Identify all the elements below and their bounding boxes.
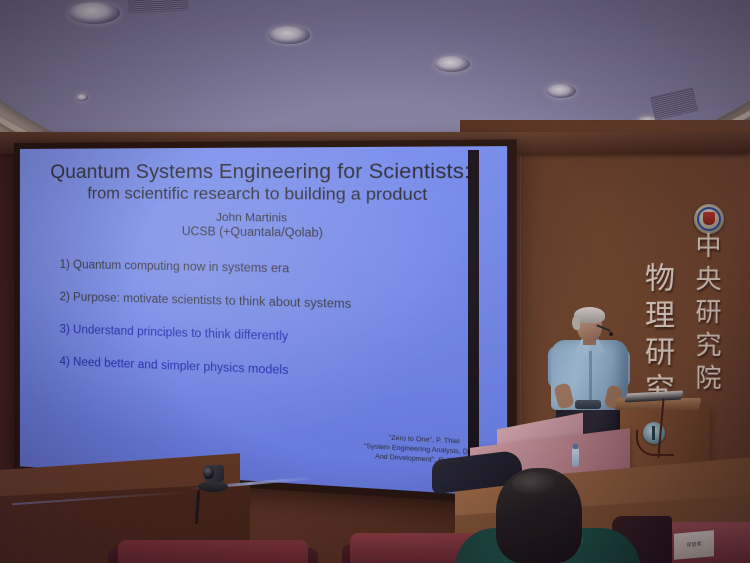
- downlight-icon: [434, 56, 470, 72]
- speaker-hair-side: [572, 316, 580, 330]
- water-bottle: [572, 448, 579, 467]
- slide-bullet-list: 1) Quantum computing now in systems era …: [38, 258, 486, 385]
- downlight-icon: [268, 26, 310, 44]
- seal-center-shield: [703, 212, 715, 225]
- wall-panel-line: [744, 140, 745, 440]
- slide-bullet-2: 2) Purpose: motivate scientists to think…: [60, 291, 486, 315]
- reserved-seat-tag: 保留席: [674, 530, 714, 559]
- projection-screen-frame: Quantum Systems Engineering for Scientis…: [14, 139, 517, 505]
- headset-mic-tip: [609, 332, 613, 336]
- presentation-slide: Quantum Systems Engineering for Scientis…: [20, 146, 507, 497]
- wall-sign-academia-sinica: 中央研究院: [688, 232, 725, 397]
- audience-member-hair-highlight: [512, 472, 558, 496]
- projection-screen: Quantum Systems Engineering for Scientis…: [20, 146, 507, 497]
- slide-bullet-3: 3) Understand principles to think differ…: [60, 323, 486, 350]
- slide-bullet-1: 1) Quantum computing now in systems era: [60, 259, 486, 280]
- water-bottle-cap: [573, 444, 578, 449]
- presentation-clicker: [575, 400, 601, 409]
- slide-affiliation: UCSB (+Quantala/Qolab): [38, 224, 486, 242]
- slide-title: Quantum Systems Engineering for Scientis…: [38, 162, 486, 184]
- institution-seal-wall: [694, 204, 724, 234]
- downlight-icon: [76, 94, 88, 101]
- slide-subtitle: from scientific research to building a p…: [38, 185, 486, 206]
- slide-bullet-4: 4) Need better and simpler physics model…: [60, 356, 486, 386]
- camera-lens-icon: [203, 466, 214, 479]
- auditorium-seat: [118, 540, 308, 563]
- camera-base: [198, 481, 228, 492]
- downlight-icon: [546, 84, 576, 98]
- projection-screen-right-edge: [468, 150, 479, 470]
- lecture-hall-photo: Quantum Systems Engineering for Scientis…: [0, 0, 750, 563]
- downlight-icon: [68, 2, 120, 24]
